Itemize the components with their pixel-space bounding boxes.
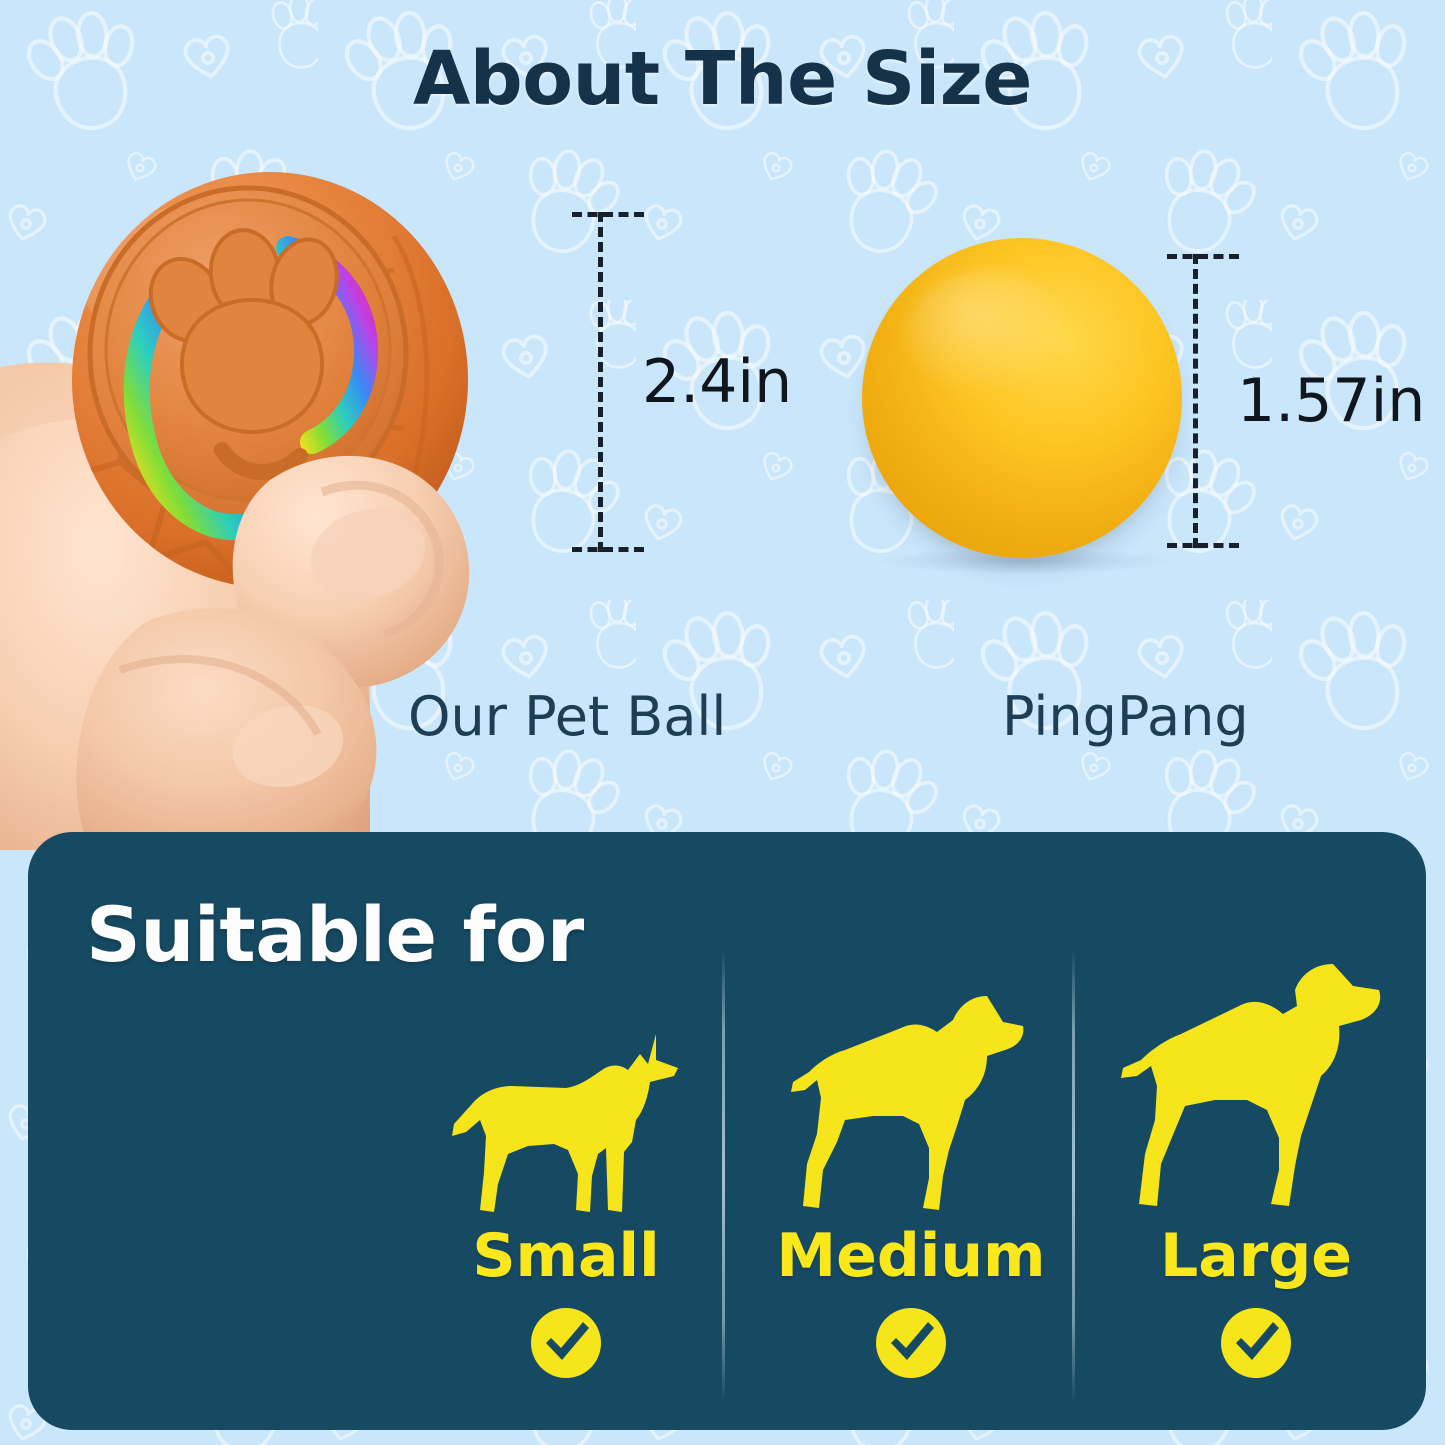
dimension-line <box>598 212 603 552</box>
large-dog-silhouette-icon <box>1100 952 1412 1220</box>
dimension-cap-top <box>1167 254 1239 259</box>
pet-ball-caption: Our Pet Ball <box>408 685 726 748</box>
size-label-medium: Medium <box>750 1226 1072 1286</box>
small-dog-silhouette-icon <box>410 952 722 1220</box>
page-title: About The Size <box>0 36 1445 122</box>
size-label-small: Small <box>410 1226 722 1286</box>
dimension-cap-bottom <box>1167 543 1239 548</box>
pingpang-ball <box>862 238 1182 558</box>
pingpang-caption: PingPang <box>1002 685 1249 748</box>
check-badge-large <box>1100 1306 1412 1380</box>
infographic-stage: About The Size <box>0 0 1445 1445</box>
dimension-line <box>1193 254 1198 548</box>
dimension-cap-top <box>572 212 644 217</box>
size-label-large: Large <box>1100 1226 1412 1286</box>
pet-ball-dimension-value: 2.4in <box>642 347 792 417</box>
suitable-for-panel: Suitable for Small <box>28 832 1426 1430</box>
pingpang-dimension-value: 1.57in <box>1237 366 1425 436</box>
size-column-small: Small <box>410 952 722 1380</box>
check-badge-small <box>410 1306 722 1380</box>
size-column-large: Large <box>1100 952 1412 1380</box>
column-divider <box>722 950 725 1402</box>
size-column-medium: Medium <box>750 952 1072 1380</box>
column-divider <box>1072 950 1075 1402</box>
medium-dog-silhouette-icon <box>750 952 1072 1220</box>
check-badge-medium <box>750 1306 1072 1380</box>
dimension-cap-bottom <box>572 547 644 552</box>
